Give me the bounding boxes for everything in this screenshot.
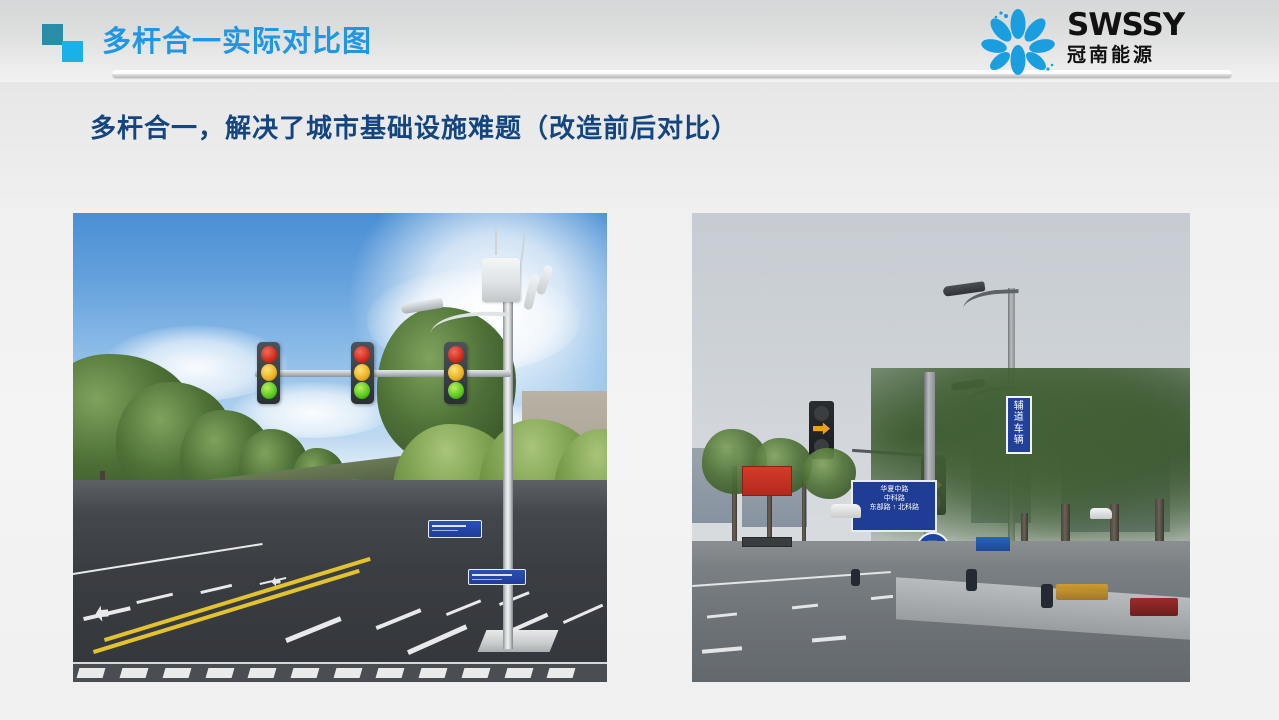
cyclist <box>1041 584 1053 608</box>
blue-petal-flower-logo <box>979 8 1057 76</box>
green-light <box>354 382 370 399</box>
white-equipment-box <box>482 258 520 302</box>
red-light <box>354 346 370 363</box>
traffic-light <box>257 342 280 404</box>
direction-guide-sign: 华夏中路中科路东部路 ↑ 北科路 <box>851 480 937 532</box>
white-car <box>831 504 861 518</box>
lane-dash <box>200 584 232 594</box>
slide-header: 多杆合一实际对比图 <box>0 0 1279 82</box>
blue-tarp <box>976 537 1010 551</box>
lane-dash <box>446 600 482 617</box>
center-line <box>93 569 360 654</box>
traffic-light <box>444 342 467 404</box>
company-logo: SWSSY 冠南能源 <box>979 6 1251 76</box>
green-light <box>448 382 464 399</box>
red-light <box>261 346 277 363</box>
lane-dash <box>702 646 742 653</box>
edge-line <box>73 543 263 575</box>
red-truck <box>742 466 792 496</box>
lane-dash <box>136 593 173 604</box>
yellow-light <box>354 364 370 381</box>
lane-dash <box>811 635 845 642</box>
photo-real-intersection[interactable]: 辅道车辆 华夏中路中科路东部路 ↑ 北科路 🚍 🚲 <box>692 213 1190 682</box>
logo-brand-text: SWSSY <box>1067 10 1251 41</box>
crosswalk <box>73 666 607 678</box>
yellow-light <box>261 364 277 381</box>
lane-dash <box>563 604 603 624</box>
cyclist <box>966 569 977 591</box>
signal-lamp-top <box>814 406 829 421</box>
lane-dash <box>707 613 737 619</box>
square-dark <box>42 24 63 45</box>
slide-subtitle: 多杆合一，解决了城市基础设施难题（改造前后对比） <box>90 108 738 145</box>
pole-foundation <box>477 630 558 652</box>
rendering-multi-pole-design[interactable] <box>73 213 607 682</box>
traffic-light <box>351 342 374 404</box>
road-direction-sign <box>468 569 526 585</box>
edge-line <box>692 571 891 587</box>
lane-dash <box>285 616 341 643</box>
side-road-vehicle-sign: 辅道车辆 <box>1006 396 1032 454</box>
square-light <box>62 41 83 62</box>
red-truck-cab <box>742 537 792 547</box>
whip-antenna <box>495 229 497 255</box>
red-light <box>448 346 464 363</box>
lane-dash <box>407 624 468 655</box>
signal-gantry-arm <box>255 370 511 377</box>
street-name-sign <box>428 520 482 538</box>
parked-bikes <box>1130 598 1178 616</box>
green-light <box>261 382 277 399</box>
tree <box>802 448 857 500</box>
logo-sub-text: 冠南能源 <box>1067 46 1251 65</box>
road-arrow <box>95 605 110 622</box>
logo-wordmark: SWSSY 冠南能源 <box>1067 10 1251 65</box>
page-title: 多杆合一实际对比图 <box>102 18 372 60</box>
lane-dash <box>871 595 893 600</box>
two-squares-icon <box>42 24 100 64</box>
white-car <box>1090 508 1112 519</box>
lane-dash <box>792 603 818 609</box>
amber-right-arrow <box>813 421 830 437</box>
cyclist <box>851 569 860 586</box>
parked-bikes <box>1056 584 1108 600</box>
lane-dash <box>376 608 422 630</box>
yellow-light <box>448 364 464 381</box>
